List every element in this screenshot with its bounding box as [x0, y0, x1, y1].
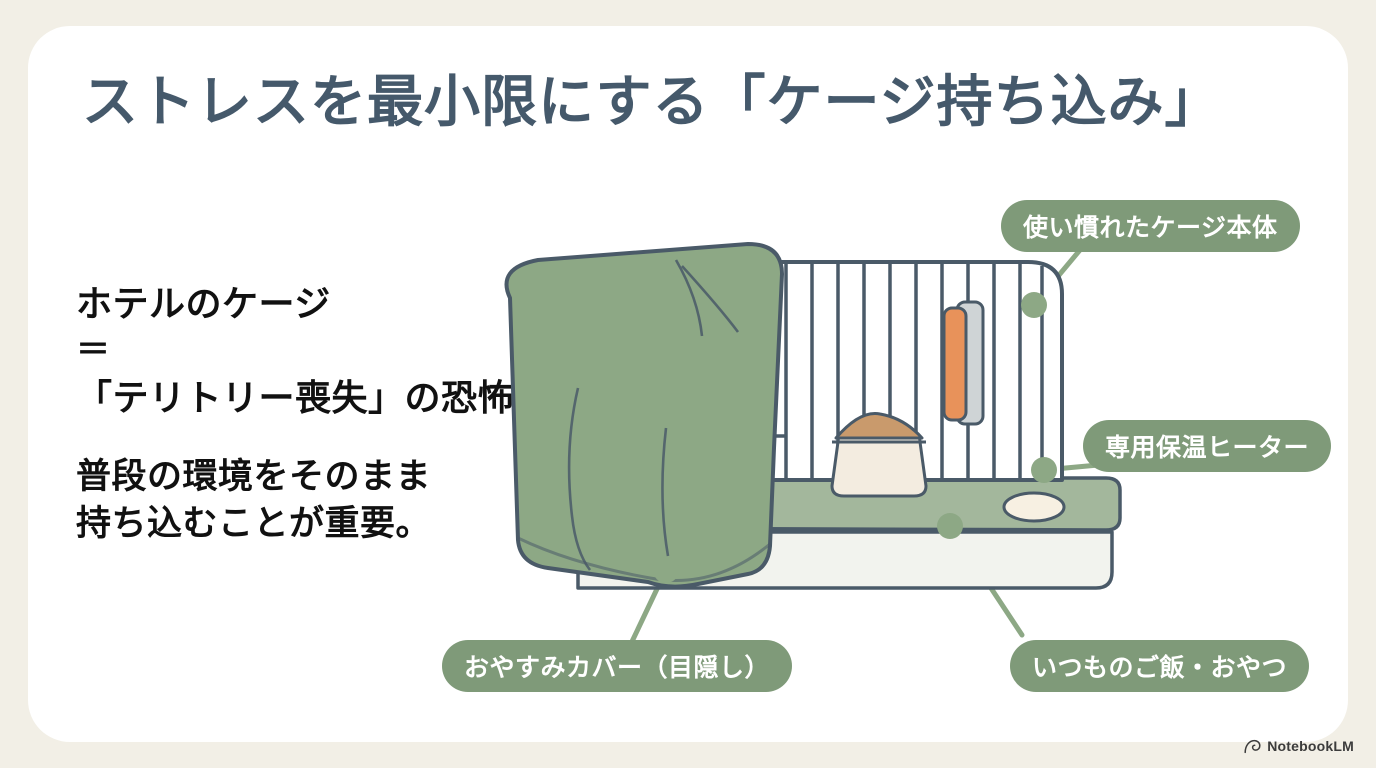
callout-food[interactable]: いつものご飯・おやつ [1010, 640, 1309, 692]
notebooklm-spiral-icon [1244, 739, 1261, 754]
cage-heater [944, 302, 983, 424]
notebooklm-label: NotebookLM [1267, 738, 1354, 754]
dot-cage-body [1021, 292, 1047, 318]
dot-food [937, 513, 963, 539]
callout-heater[interactable]: 専用保温ヒーター [1083, 420, 1331, 472]
callout-cage-body[interactable]: 使い慣れたケージ本体 [1001, 200, 1300, 252]
page-title: ストレスを最小限にする「ケージ持ち込み」 [82, 70, 1262, 134]
dot-cover [653, 557, 679, 583]
dot-heater [1031, 457, 1057, 483]
sleep-cover [507, 244, 783, 587]
tray-handle-cutout [1004, 493, 1064, 521]
slide-root: ストレスを最小限にする「ケージ持ち込み」 ホテルのケージ ＝ 「テリトリー喪失」… [0, 0, 1376, 768]
callout-cover[interactable]: おやすみカバー（目隠し） [442, 640, 792, 692]
notebooklm-watermark: NotebookLM [1244, 738, 1354, 754]
